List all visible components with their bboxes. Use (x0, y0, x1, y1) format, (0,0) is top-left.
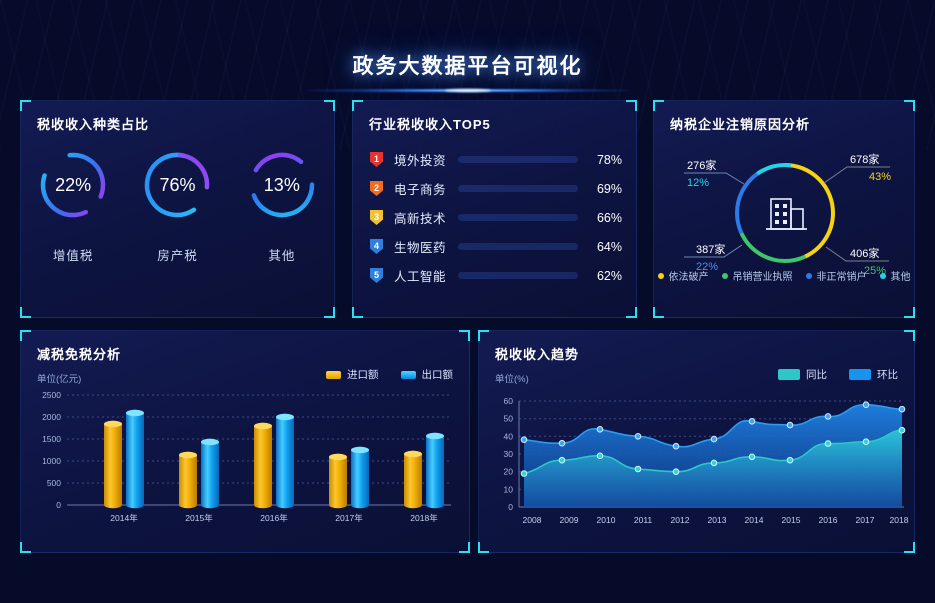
donut-label-count-2: 387家 (696, 242, 725, 256)
legend-item-mom[interactable]: 环比 (849, 367, 898, 382)
gauge-label-0: 增值税 (53, 245, 94, 264)
svg-text:2014年: 2014年 (110, 513, 138, 523)
bar-top-import-2016 (254, 423, 272, 429)
svg-text:50: 50 (504, 414, 514, 424)
gauge-value-1: 76% (141, 149, 213, 221)
list-item[interactable]: 1 境外投资 78% (369, 145, 622, 174)
panel-cancel-reason: 纳税企业注销原因分析 (653, 100, 915, 318)
rank-badge-icon: 3 (369, 209, 384, 226)
legend-dot-icon (880, 273, 886, 279)
gauge-ring-0: 22% (37, 149, 109, 221)
corner-bracket-tl (478, 330, 489, 341)
svg-text:10: 10 (504, 484, 514, 494)
gauge-ring-1: 76% (141, 149, 213, 221)
rank-badge-icon: 2 (369, 180, 384, 197)
svg-text:2012: 2012 (671, 515, 690, 525)
list-item[interactable]: 3 高新技术 66% (369, 203, 622, 232)
legend-item-0[interactable]: 依法破产 (658, 268, 709, 283)
corner-bracket-tl (352, 100, 363, 111)
legend-label: 吊销营业执照 (733, 268, 793, 283)
rank-bar-track (458, 243, 578, 250)
rank-name: 生物医药 (394, 237, 456, 256)
bar-export-2017 (351, 447, 369, 508)
panel-title-tax-relief: 减税免税分析 (37, 344, 121, 363)
corner-bracket-tr (459, 330, 470, 341)
svg-text:2008: 2008 (523, 515, 542, 525)
legend-item-3[interactable]: 其他 (880, 268, 911, 283)
legend-label: 环比 (877, 367, 898, 382)
legend-swatch-icon (778, 369, 800, 380)
donut-label-pct-3: 12% (687, 177, 709, 189)
legend-swatch-icon (849, 369, 871, 380)
rank-name: 境外投资 (394, 150, 456, 169)
svg-text:2500: 2500 (42, 390, 61, 400)
donut-label-pct-0: 43% (869, 171, 891, 183)
legend-dot-icon (658, 273, 664, 279)
corner-bracket-tr (904, 330, 915, 341)
svg-text:2017年: 2017年 (335, 513, 363, 523)
gauge-item-1: 76% 房产税 (125, 149, 229, 314)
bar-top-export-2015 (201, 439, 219, 445)
rank-bar-track (458, 185, 578, 192)
bar-chart-unit-label: 单位(亿元) (37, 371, 81, 385)
corner-bracket-tr (626, 100, 637, 111)
rank-number: 2 (369, 180, 384, 197)
svg-text:30: 30 (504, 449, 514, 459)
dashboard-root: 政务大数据平台可视化 税收收入种类占比 (0, 0, 935, 603)
svg-text:2014: 2014 (745, 515, 764, 525)
rank-percent: 64% (588, 240, 622, 254)
svg-text:0: 0 (508, 502, 513, 512)
gauge-label-2: 其他 (268, 245, 295, 264)
corner-bracket-bl (352, 307, 363, 318)
rank-percent: 62% (588, 269, 622, 283)
rank-percent: 69% (588, 182, 622, 196)
list-item[interactable]: 4 生物医药 64% (369, 232, 622, 261)
legend-item-yoy[interactable]: 同比 (778, 367, 827, 382)
panel-title-top5: 行业税收收入TOP5 (369, 114, 491, 133)
bar-group-2014 (104, 410, 144, 508)
bar-group-2018 (404, 433, 444, 508)
svg-text:1500: 1500 (42, 434, 61, 444)
legend-label: 其他 (891, 268, 911, 283)
bar-group-2015 (179, 439, 219, 508)
gauge-value-0: 22% (37, 149, 109, 221)
gauge-item-2: 13% 其他 (230, 149, 334, 314)
bar-export-2015 (201, 439, 219, 508)
rank-bar-track (458, 214, 578, 221)
panel-title-cancel-reason: 纳税企业注销原因分析 (670, 114, 810, 133)
area-chart-canvas: 60 50 40 30 20 10 0 (479, 387, 916, 547)
rank-number: 3 (369, 209, 384, 226)
bar-group-2017 (329, 447, 369, 508)
panel-title-tax-trend: 税收收入趋势 (495, 344, 579, 363)
bar-import-2014 (104, 421, 122, 508)
corner-bracket-tr (904, 100, 915, 111)
svg-text:2015年: 2015年 (185, 513, 213, 523)
x-axis-labels: 2014年 2015年 2016年 2017年 2018年 (110, 513, 438, 523)
legend-label: 依法破产 (669, 268, 709, 283)
rank-badge-icon: 5 (369, 267, 384, 284)
bar-top-import-2017 (329, 454, 347, 460)
panel-tax-trend: 税收收入趋势 单位(%) 同比 环比 (478, 330, 915, 553)
svg-text:500: 500 (47, 478, 61, 488)
list-item[interactable]: 2 电子商务 69% (369, 174, 622, 203)
svg-text:2010: 2010 (597, 515, 616, 525)
legend-dot-icon (722, 273, 728, 279)
area-chart-unit-label: 单位(%) (495, 371, 529, 385)
legend-label: 出口额 (422, 367, 454, 382)
legend-label: 非正常销户 (817, 268, 867, 283)
corner-bracket-tr (324, 100, 335, 111)
rank-percent: 78% (588, 153, 622, 167)
gauge-row: 22% 增值税 (21, 149, 334, 314)
legend-item-export[interactable]: 出口额 (401, 367, 454, 382)
svg-text:1000: 1000 (42, 456, 61, 466)
legend-label: 进口额 (347, 367, 379, 382)
svg-text:2017: 2017 (856, 515, 875, 525)
y-axis-labels: 2500 2000 1500 1000 500 0 (42, 390, 61, 510)
dashboard-header: 政务大数据平台可视化 (0, 0, 935, 100)
bar-import-2018 (404, 451, 422, 508)
rank-name: 人工智能 (394, 266, 456, 285)
svg-text:40: 40 (504, 431, 514, 441)
svg-text:2015: 2015 (782, 515, 801, 525)
y-axis-labels: 60 50 40 30 20 10 0 (504, 396, 514, 512)
bar-chart-canvas: 2500 2000 1500 1000 500 0 (21, 387, 471, 547)
page-title: 政务大数据平台可视化 (0, 50, 935, 80)
svg-text:2009: 2009 (560, 515, 579, 525)
rank-name: 电子商务 (394, 179, 456, 198)
list-item[interactable]: 5 人工智能 62% (369, 261, 622, 290)
bar-import-2016 (254, 423, 272, 508)
bar-top-export-2014 (126, 410, 144, 416)
svg-text:2018年: 2018年 (410, 513, 438, 523)
svg-text:2011: 2011 (634, 515, 653, 525)
legend-item-2[interactable]: 非正常销户 (806, 268, 867, 283)
gauge-item-0: 22% 增值税 (21, 149, 125, 314)
corner-bracket-tl (20, 330, 31, 341)
legend-swatch-icon (401, 371, 416, 379)
bar-export-2014 (126, 410, 144, 508)
svg-text:2018: 2018 (890, 515, 909, 525)
rank-number: 1 (369, 151, 384, 168)
rank-bar-track (458, 156, 578, 163)
bar-top-export-2017 (351, 447, 369, 453)
rank-percent: 66% (588, 211, 622, 225)
corner-bracket-tl (653, 100, 664, 111)
panel-title-tax-share: 税收收入种类占比 (37, 114, 149, 133)
bar-export-2018 (426, 433, 444, 508)
bar-top-export-2018 (426, 433, 444, 439)
corner-bracket-tl (20, 100, 31, 111)
svg-text:2000: 2000 (42, 412, 61, 422)
svg-text:60: 60 (504, 396, 514, 406)
svg-text:2016年: 2016年 (260, 513, 288, 523)
legend-item-import[interactable]: 进口额 (326, 367, 379, 382)
rank-number: 5 (369, 267, 384, 284)
donut-label-count-0: 678家 (850, 152, 879, 166)
legend-item-1[interactable]: 吊销营业执照 (722, 268, 793, 283)
donut-chart: 678家 43% 276家 12% 387家 22% 406家 25% 依法破产… (654, 135, 914, 295)
bar-top-import-2015 (179, 452, 197, 458)
gauge-value-2: 13% (246, 149, 318, 221)
corner-bracket-br (904, 307, 915, 318)
donut-legend: 依法破产 吊销营业执照 非正常销户 其他 (654, 268, 914, 283)
x-axis-labels: 20082009 20102011 20122013 20142015 2016… (523, 515, 909, 525)
legend-dot-icon (806, 273, 812, 279)
svg-text:0: 0 (56, 500, 61, 510)
rank-badge-icon: 1 (369, 151, 384, 168)
rank-bar-track (458, 272, 578, 279)
svg-text:2013: 2013 (708, 515, 727, 525)
svg-text:2016: 2016 (819, 515, 838, 525)
bar-chart-legend: 进口额 出口额 (326, 367, 453, 382)
legend-swatch-icon (326, 371, 341, 379)
legend-label: 同比 (806, 367, 827, 382)
donut-label-count-3: 276家 (687, 158, 716, 172)
area-chart-legend: 同比 环比 (778, 367, 898, 382)
corner-bracket-br (626, 307, 637, 318)
gauge-label-1: 房产税 (157, 245, 198, 264)
corner-bracket-bl (653, 307, 664, 318)
bar-import-2015 (179, 452, 197, 508)
title-light-core (445, 89, 491, 92)
bar-top-import-2014 (104, 421, 122, 427)
bar-import-2017 (329, 454, 347, 508)
panel-industry-top5: 行业税收收入TOP5 1 境外投资 78% 2 电子商务 (352, 100, 637, 318)
bar-top-export-2016 (276, 414, 294, 420)
rank-name: 高新技术 (394, 208, 456, 227)
rank-list: 1 境外投资 78% 2 电子商务 69% (369, 145, 622, 290)
bar-export-2016 (276, 414, 294, 508)
rank-badge-icon: 4 (369, 238, 384, 255)
svg-text:20: 20 (504, 467, 514, 477)
donut-label-count-1: 406家 (850, 246, 879, 260)
panel-tax-relief: 减税免税分析 单位(亿元) 进口额 出口额 (20, 330, 470, 553)
rank-number: 4 (369, 238, 384, 255)
bar-top-import-2018 (404, 451, 422, 457)
gauge-ring-2: 13% (246, 149, 318, 221)
panel-tax-share: 税收收入种类占比 22% 增值税 (20, 100, 335, 318)
building-icon (766, 199, 807, 229)
